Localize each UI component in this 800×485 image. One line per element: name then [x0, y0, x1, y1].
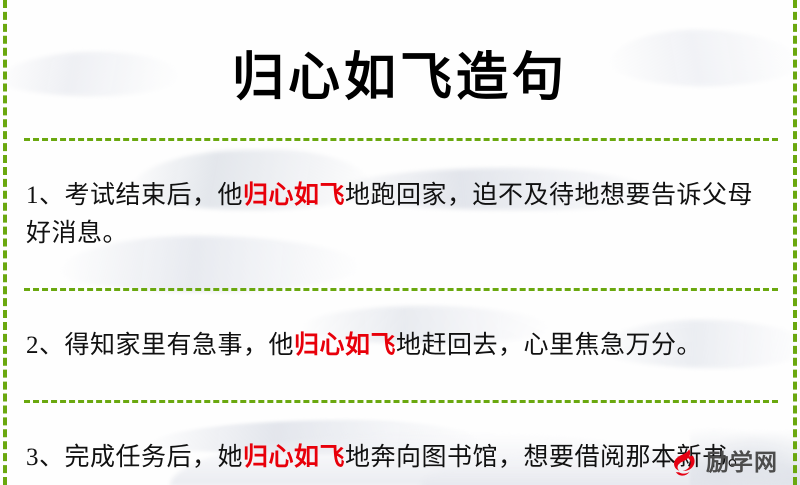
site-logo[interactable]: 励学网 [670, 447, 778, 477]
sentence-index: 2、 [26, 332, 65, 359]
keyword-highlight: 归心如飞 [243, 182, 345, 209]
sentence-before: 得知家里有急事，他 [65, 332, 295, 359]
keyword-highlight: 归心如飞 [243, 444, 345, 471]
list-item: 1、考试结束后，他归心如飞地跑回家，迫不及待地想要告诉父母好消息。 [24, 166, 778, 263]
list-item: 3、完成任务后，她归心如飞地奔向图书馆，想要借阅那本新书。 [24, 428, 778, 485]
sentence-before: 考试结束后，他 [65, 182, 244, 209]
sentence-list: 1、考试结束后，他归心如飞地跑回家，迫不及待地想要告诉父母好消息。 2、得知家里… [0, 138, 800, 485]
sentence-after: 地赶回去，心里焦急万分。 [396, 332, 702, 359]
logo-text: 励学网 [706, 451, 778, 474]
sentence-index: 1、 [26, 182, 65, 209]
list-item: 2、得知家里有急事，他归心如飞地赶回去，心里焦急万分。 [24, 316, 778, 375]
keyword-highlight: 归心如飞 [294, 332, 396, 359]
divider-dashed-top [24, 138, 778, 141]
page-title: 归心如飞造句 [0, 35, 800, 103]
divider-dashed-2 [24, 400, 778, 403]
divider-dashed-1 [24, 288, 778, 291]
flame-swirl-icon [670, 447, 700, 477]
sentence-before: 完成任务后，她 [65, 444, 244, 471]
page-root: 归心如飞造句 1、考试结束后，他归心如飞地跑回家，迫不及待地想要告诉父母好消息。… [0, 0, 800, 485]
sentence-index: 3、 [26, 444, 65, 471]
